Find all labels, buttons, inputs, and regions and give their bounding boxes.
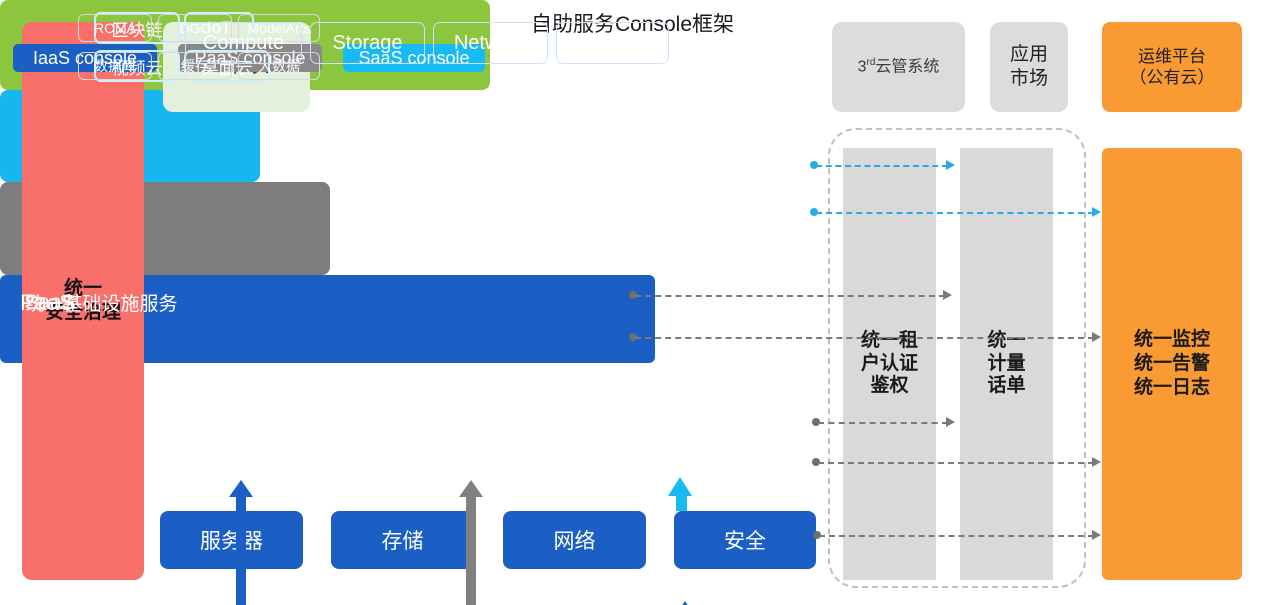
ops-platform-line-1: 运维平台 [1130,46,1215,67]
ops-platform-line-2: （公有云） [1130,67,1215,88]
resource-box-security[interactable]: 安全 [674,511,816,569]
iaas-chip-storage[interactable]: Storage [310,22,425,64]
third-party-cloud-management-box: 3rd云管系统 [832,22,965,112]
ops-panel-line-3: 统一日志 [1134,376,1210,400]
pillar-billing-line-1: 统一 [987,330,1025,353]
ops-panel-line-2: 统一告警 [1134,352,1210,376]
ops-monitoring-panel: 统一监控 统一告警 统一日志 [1102,148,1242,580]
iaas-chip-cce[interactable]: CCE [556,22,669,64]
pillar-auth-line-1: 统一租 [861,330,918,353]
third-party-label: 3rd云管系统 [858,57,940,77]
pillar-billing-line-3: 话单 [987,375,1025,398]
resource-box-server[interactable]: 服务器 [160,511,303,569]
unified-infrastructure-service-bar: 统一基础设施服务 Compute Storage Network CCE [0,275,655,363]
pillar-auth-line-3: 鉴权 [861,375,918,398]
iaas-chip-compute[interactable]: Compute [185,22,302,64]
architecture-diagram: 统一 安全治理 API网关 自助服务Console框架 IaaS console… [0,0,1265,605]
pillar-billing-line-2: 计量 [987,353,1025,376]
pillar-auth-line-2: 户认证 [861,353,918,376]
app-market-line-2: 市场 [1010,67,1048,91]
resource-box-network[interactable]: 网络 [503,511,646,569]
app-market-line-1: 应用 [1010,43,1048,67]
app-market-box: 应用 市场 [990,22,1068,112]
ops-panel-line-1: 统一监控 [1134,328,1210,352]
resource-box-storage[interactable]: 存储 [331,511,474,569]
ops-platform-box: 运维平台 （公有云） [1102,22,1242,112]
iaas-chip-network[interactable]: Network [433,22,548,64]
